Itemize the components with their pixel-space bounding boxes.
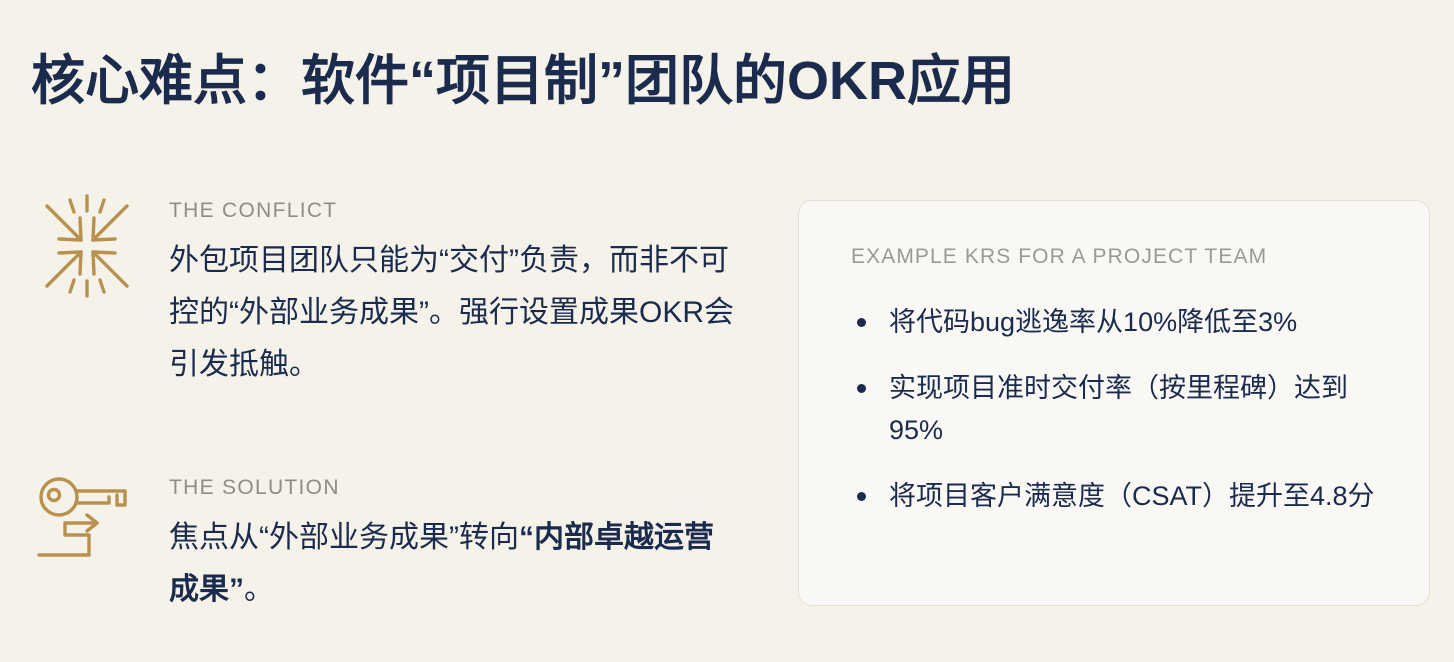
point-block-solution: THE SOLUTION 焦点从“外部业务成果”转向“内部卓越运营成果”。 bbox=[31, 467, 741, 616]
plain-text: 。 bbox=[244, 573, 274, 606]
example-krs-card: EXAMPLE KRs FOR A PROJECT TEAM 将代码bug逃逸率… bbox=[798, 200, 1430, 606]
slide-body: THE CONFLICT 外包项目团队只能为“交付”负责，而非不可控的“外部业务… bbox=[0, 178, 1454, 662]
list-item: 实现项目准时交付率（按里程碑）达到95% bbox=[851, 367, 1389, 451]
slide: 核心难点：软件“项目制”团队的OKR应用 bbox=[0, 0, 1454, 662]
kicker-solution: THE SOLUTION bbox=[169, 475, 741, 501]
bullet-icon bbox=[857, 384, 866, 393]
point-text-conflict: THE CONFLICT 外包项目团队只能为“交付”负责，而非不可控的“外部业务… bbox=[169, 190, 741, 391]
plain-text: 外包项目团队只能为“交付”负责，而非不可控的“外部业务成果”。强行设置成果OKR… bbox=[169, 244, 734, 381]
key-path-icon bbox=[31, 467, 143, 563]
list-item-label: 将项目客户满意度（CSAT）提升至4.8分 bbox=[889, 481, 1375, 511]
point-body-conflict: 外包项目团队只能为“交付”负责，而非不可控的“外部业务成果”。强行设置成果OKR… bbox=[169, 235, 741, 391]
list-item: 将代码bug逃逸率从10%降低至3% bbox=[851, 301, 1389, 343]
point-body-solution: 焦点从“外部业务成果”转向“内部卓越运营成果”。 bbox=[169, 512, 741, 616]
example-krs-card-title: EXAMPLE KRs FOR A PROJECT TEAM bbox=[851, 244, 1389, 270]
bullet-icon bbox=[857, 318, 866, 327]
kicker-conflict: THE CONFLICT bbox=[169, 198, 741, 224]
page-title: 核心难点：软件“项目制”团队的OKR应用 bbox=[31, 44, 1015, 118]
plain-text: 焦点从“外部业务成果”转向 bbox=[169, 521, 519, 554]
list-item-label: 将代码bug逃逸率从10%降低至3% bbox=[889, 307, 1297, 337]
list-item: 将项目客户满意度（CSAT）提升至4.8分 bbox=[851, 475, 1389, 517]
list-item-label: 实现项目准时交付率（按里程碑）达到95% bbox=[889, 373, 1348, 445]
bullet-icon bbox=[857, 492, 866, 501]
left-column: THE CONFLICT 外包项目团队只能为“交付”负责，而非不可控的“外部业务… bbox=[31, 190, 741, 616]
point-text-solution: THE SOLUTION 焦点从“外部业务成果”转向“内部卓越运营成果”。 bbox=[169, 467, 741, 616]
example-krs-list: 将代码bug逃逸率从10%降低至3%实现项目准时交付率（按里程碑）达到95%将项… bbox=[851, 301, 1389, 517]
point-block-conflict: THE CONFLICT 外包项目团队只能为“交付”负责，而非不可控的“外部业务… bbox=[31, 190, 741, 391]
collision-arrows-icon bbox=[31, 190, 143, 302]
